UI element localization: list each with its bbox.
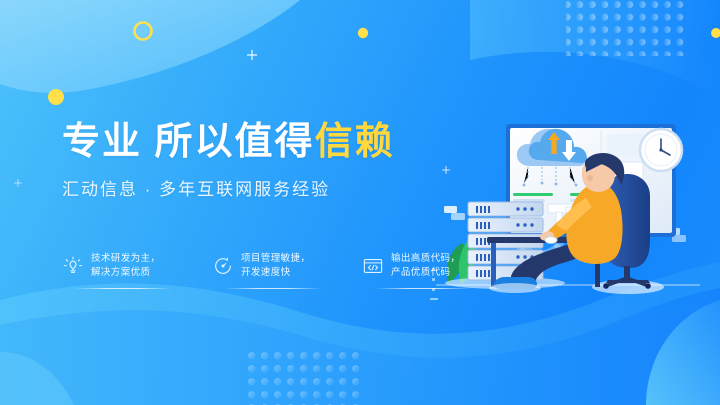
feature-list: 技术研发为主，解决方案优质 项目管理敏捷，开发速度快 bbox=[62, 252, 486, 289]
chip-shape-a bbox=[444, 206, 457, 213]
background-decoration-layer bbox=[0, 0, 720, 405]
code-window-icon bbox=[362, 255, 384, 277]
feature-item-agile[interactable]: 项目管理敏捷，开发速度快 bbox=[212, 252, 336, 289]
screen-card-b bbox=[607, 162, 643, 188]
yellow-dot-edge-icon bbox=[711, 28, 720, 38]
marketing-banner: 专业 所以值得信赖 汇动信息 · 多年互联网服务经验 bbox=[0, 0, 720, 405]
wave-blob-mid-right bbox=[470, 0, 720, 100]
page-title: 专业 所以值得信赖 bbox=[62, 120, 462, 165]
plus-mark-icon-c bbox=[14, 179, 22, 187]
chip-shape-b bbox=[451, 213, 465, 220]
progress-bar-group bbox=[513, 193, 600, 213]
headline-block: 专业 所以值得信赖 汇动信息 · 多年互联网服务经验 bbox=[62, 120, 462, 201]
developer-at-desk-illustration bbox=[0, 0, 720, 405]
cloud-upload-download-icon bbox=[517, 129, 587, 166]
gears-graphic bbox=[510, 189, 597, 260]
screen-card-a bbox=[607, 134, 643, 156]
chip-shape-d bbox=[672, 235, 686, 242]
chip-shape-c bbox=[664, 228, 680, 235]
feature-underline bbox=[374, 288, 472, 289]
page-subtitle: 汇动信息 · 多年互联网服务经验 bbox=[62, 179, 462, 201]
desk bbox=[487, 237, 605, 287]
arrow-up-icon bbox=[548, 132, 560, 154]
wave-blob-bottom-deep bbox=[0, 288, 720, 405]
wave-corner-bottom-right bbox=[646, 300, 720, 405]
headline-accent: 信赖 bbox=[315, 121, 395, 163]
yellow-dot-small-icon bbox=[358, 28, 368, 38]
lightbulb-icon bbox=[62, 255, 84, 277]
seated-person-figure bbox=[489, 153, 624, 293]
wave-blob-top-left bbox=[0, 0, 300, 93]
headline-main: 专业 所以值得 bbox=[62, 121, 315, 163]
feature-text-agile: 项目管理敏捷，开发速度快 bbox=[241, 252, 310, 281]
dot-grid-top-right bbox=[566, 0, 684, 56]
dot-grid-bottom-left bbox=[244, 352, 359, 405]
dotted-connectors bbox=[524, 167, 589, 183]
feature-underline bbox=[224, 288, 322, 289]
feature-text-research: 技术研发为主，解决方案优质 bbox=[91, 252, 160, 281]
office-chair bbox=[592, 174, 664, 294]
wave-corner-bottom-left bbox=[0, 352, 74, 405]
feature-text-code: 输出高质代码，产品优质代码 bbox=[391, 252, 460, 281]
plus-mark-icon-a bbox=[247, 50, 257, 60]
feature-item-research[interactable]: 技术研发为主，解决方案优质 bbox=[62, 252, 186, 289]
feature-item-code[interactable]: 输出高质代码，产品优质代码 bbox=[362, 252, 486, 289]
arrow-down-icon bbox=[562, 140, 576, 161]
monitor-screen bbox=[506, 124, 676, 237]
feature-underline bbox=[74, 288, 172, 289]
bar-chart-graphic bbox=[556, 203, 602, 229]
yellow-ring-icon bbox=[135, 23, 152, 40]
screen-card-c bbox=[607, 194, 643, 210]
yellow-dot-large-icon bbox=[48, 89, 64, 105]
clock-icon bbox=[212, 255, 234, 277]
wall-clock bbox=[640, 129, 682, 171]
